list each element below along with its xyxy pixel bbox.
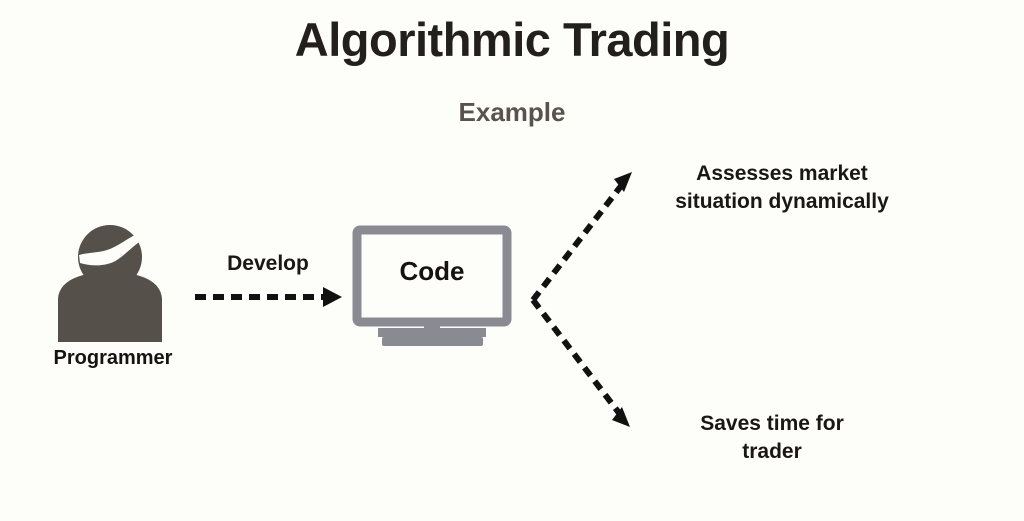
diagram-canvas: Algorithmic Trading Example Programmer D… xyxy=(0,0,1024,521)
develop-arrow-icon xyxy=(190,283,350,313)
outcome-line: Saves time for xyxy=(638,410,906,438)
node-programmer: Programmer xyxy=(38,222,188,392)
page-subtitle: Example xyxy=(0,98,1024,127)
outcome-line: Assesses market xyxy=(648,160,916,188)
person-icon xyxy=(38,222,188,342)
branch-bottom-arrow-icon xyxy=(533,300,630,427)
outcome-saves-time: Saves time for trader xyxy=(638,410,906,465)
branch-arrows-icon xyxy=(510,155,660,445)
page-title: Algorithmic Trading xyxy=(0,14,1024,66)
outcome-line: situation dynamically xyxy=(648,188,916,216)
edge-develop-label: Develop xyxy=(193,252,343,276)
branch-top-arrow-icon xyxy=(533,172,632,300)
outcome-assesses-market: Assesses market situation dynamically xyxy=(648,160,916,215)
node-code: Code xyxy=(350,224,520,349)
monitor-icon xyxy=(350,224,520,349)
outcome-line: trader xyxy=(638,438,906,466)
node-programmer-label: Programmer xyxy=(38,347,188,370)
